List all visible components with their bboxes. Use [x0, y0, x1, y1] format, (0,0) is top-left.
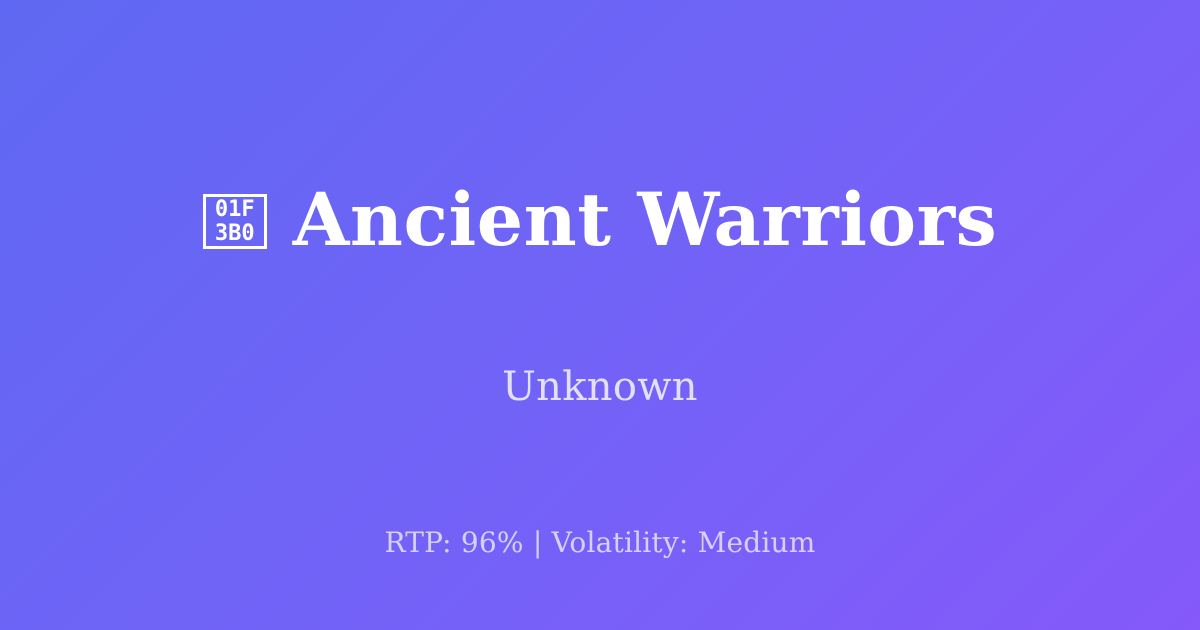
game-stats: RTP: 96% | Volatility: Medium — [0, 526, 1200, 560]
codepoint-hex-top: 01F — [215, 198, 255, 222]
game-title: Ancient Warriors — [293, 182, 997, 259]
game-provider: Unknown — [502, 365, 698, 409]
game-preview-card: 01F 3B0 Ancient Warriors Unknown RTP: 96… — [0, 0, 1200, 630]
slot-machine-emoji-missing-glyph-icon: 01F 3B0 — [203, 194, 267, 249]
codepoint-hex-bottom: 3B0 — [215, 222, 255, 246]
headline-block: 01F 3B0 Ancient Warriors Unknown — [0, 0, 1200, 546]
title-with-icon: 01F 3B0 Ancient Warriors — [0, 133, 1200, 307]
